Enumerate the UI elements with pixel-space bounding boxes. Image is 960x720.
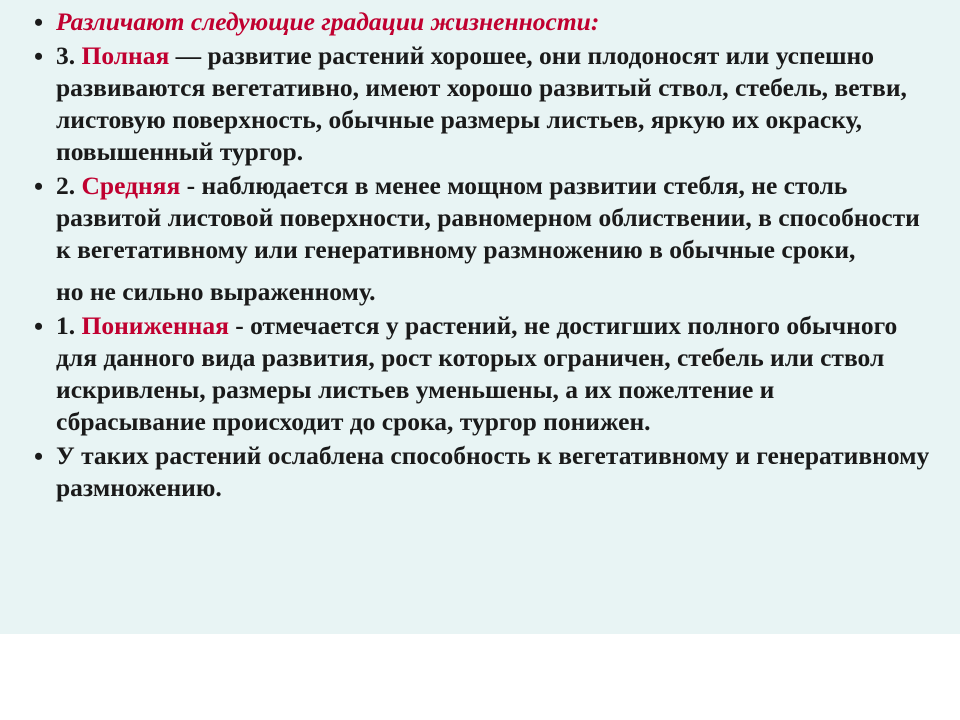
item-paragraph: 3. Полная — развитие растений хорошее, о… <box>56 40 930 168</box>
slide-bottom-band <box>0 634 960 720</box>
bullet-dot-icon: • <box>34 441 43 474</box>
item-body: - наблюдается в менее мощном развитии ст… <box>56 171 920 264</box>
item-number: 3. <box>56 41 75 70</box>
item-paragraph: 1. Пониженная - отмечается у растений, н… <box>56 310 930 438</box>
item-paragraph: 2. Средняя - наблюдается в менее мощном … <box>56 170 930 266</box>
item-term: Пониженная <box>82 311 229 340</box>
item-number: 1. <box>56 311 75 340</box>
slide: • Различают следующие градации жизненнос… <box>0 0 960 720</box>
bullet-dot-icon: • <box>34 41 43 74</box>
list-item: • У таких растений ослаблена способность… <box>26 440 930 504</box>
bullet-dot-icon: • <box>34 311 43 344</box>
bullet-dot-icon: • <box>34 171 43 204</box>
list-item: • 1. Пониженная - отмечается у растений,… <box>26 310 930 438</box>
heading-text: Различают следующие градации жизненности… <box>56 7 599 36</box>
slide-content-area: • Различают следующие градации жизненнос… <box>0 0 960 634</box>
item-body: — развитие растений хорошее, они плодоно… <box>56 41 907 166</box>
list-item-heading: • Различают следующие градации жизненнос… <box>26 6 930 38</box>
item-term: Средняя <box>82 171 181 200</box>
list-item: • 2. Средняя - наблюдается в менее мощно… <box>26 170 930 308</box>
bullet-list: • Различают следующие градации жизненнос… <box>26 6 930 504</box>
list-item: • 3. Полная — развитие растений хорошее,… <box>26 40 930 168</box>
item-paragraph: У таких растений ослаблена способность к… <box>56 440 930 504</box>
item-term: Полная <box>82 41 170 70</box>
item-number: 2. <box>56 171 75 200</box>
item-continuation: но не сильно выраженному. <box>56 276 930 308</box>
bullet-dot-icon: • <box>34 7 43 40</box>
